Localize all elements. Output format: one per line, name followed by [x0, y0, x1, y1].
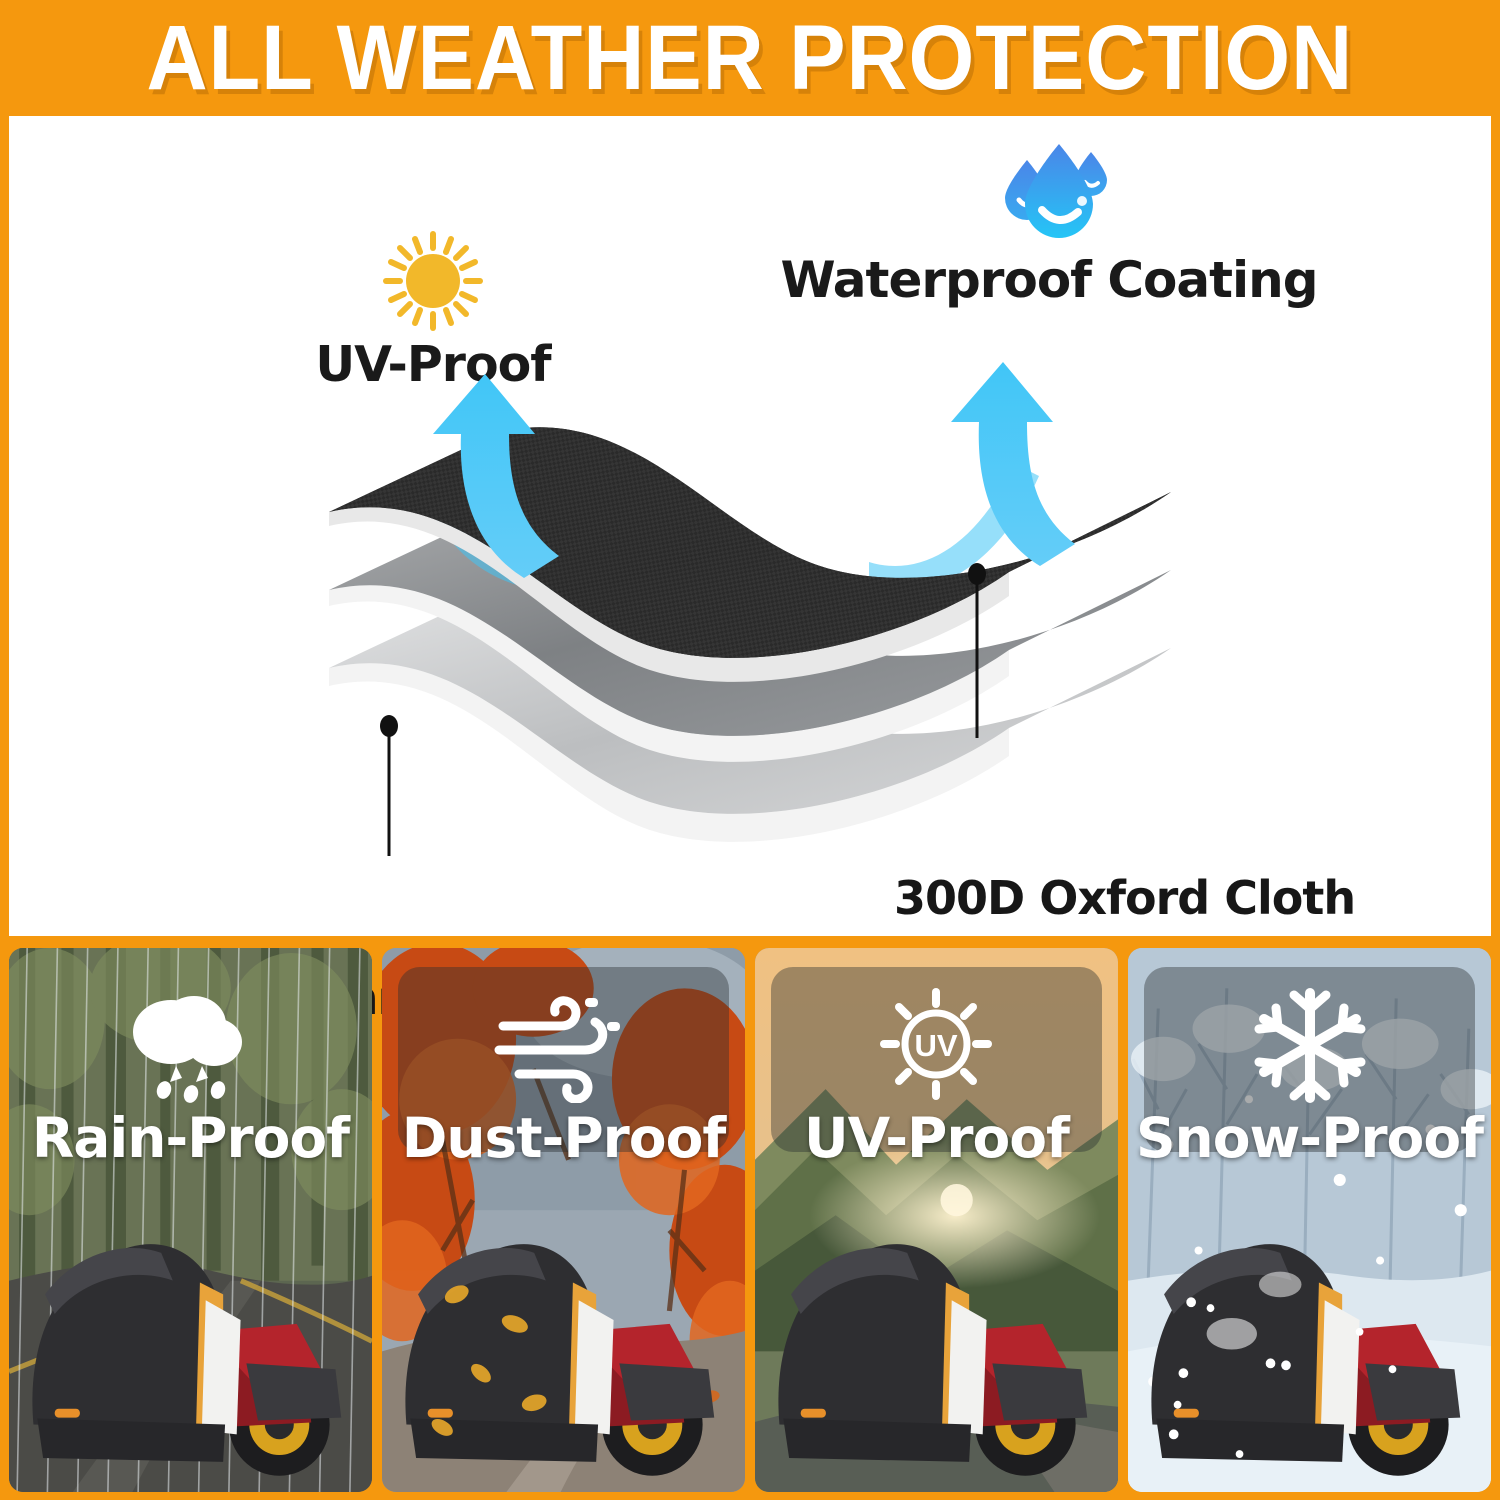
sun-uv-icon: UV [755, 975, 1118, 1116]
water-drop-icon [769, 136, 1329, 251]
panel-rain-label: Rain-Proof [9, 1106, 372, 1170]
panel-snow[interactable]: Snow-Proof [1128, 948, 1491, 1492]
pu-leader [380, 715, 398, 856]
covered-motorcycle [762, 1176, 1110, 1492]
sun-icon [283, 226, 583, 336]
covered-motorcycle [16, 1176, 364, 1492]
layers-illustration [309, 356, 1189, 876]
svg-text:UV: UV [914, 1028, 957, 1063]
waterproof-badge: Waterproof Coating [769, 136, 1329, 309]
panel-rain[interactable]: Rain-Proof [9, 948, 372, 1492]
fabric-layers-diagram: UV-Proof [9, 116, 1491, 936]
oxford-callout-label: 300D Oxford Cloth [894, 871, 1355, 925]
panel-uv[interactable]: UV UV-Proof [755, 948, 1118, 1492]
rain-cloud-icon [9, 975, 372, 1116]
snowflake-icon [1128, 975, 1491, 1116]
page-title: ALL WEATHER PROTECTION [147, 12, 1354, 104]
panel-snow-label: Snow-Proof [1128, 1106, 1491, 1170]
panel-dust-label: Dust-Proof [382, 1106, 745, 1170]
waterproof-label: Waterproof Coating [769, 251, 1329, 309]
wind-icon [382, 975, 745, 1116]
covered-motorcycle [389, 1176, 737, 1492]
covered-motorcycle [1135, 1176, 1483, 1492]
panel-uv-label: UV-Proof [755, 1106, 1118, 1170]
header-banner: ALL WEATHER PROTECTION [0, 0, 1500, 116]
feature-panels: Rain-Proof [9, 948, 1491, 1492]
panel-dust[interactable]: Dust-Proof [382, 948, 745, 1492]
product-infographic: ALL WEATHER PROTECTION [0, 0, 1500, 1500]
